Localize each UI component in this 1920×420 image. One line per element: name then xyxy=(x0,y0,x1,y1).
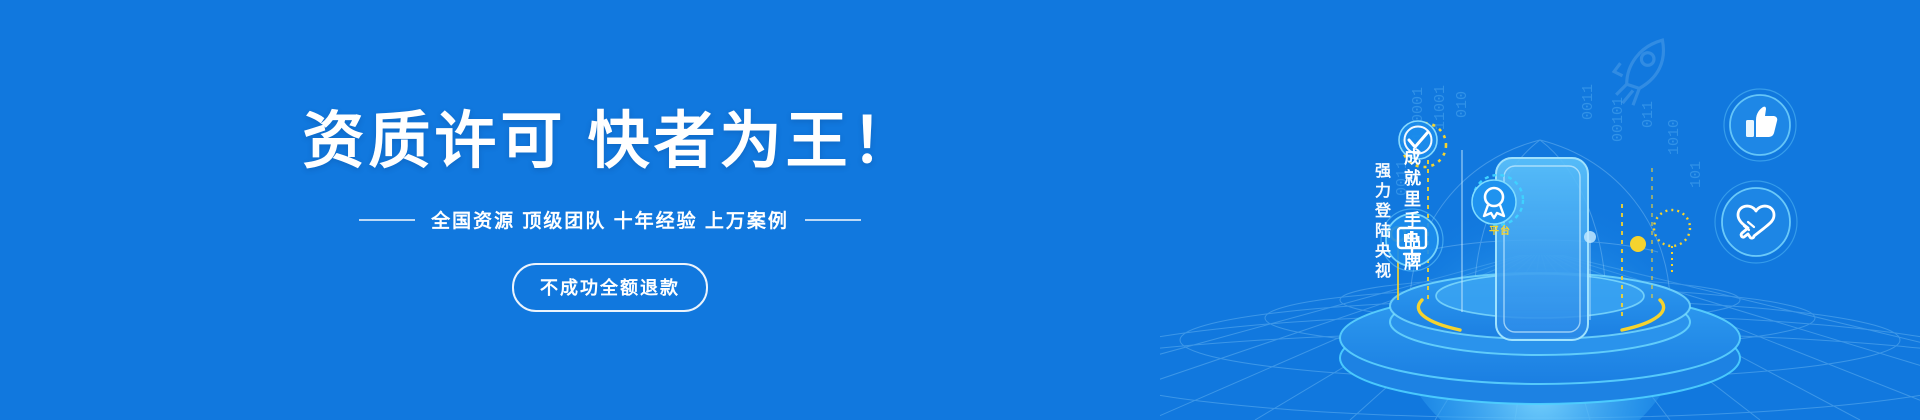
svg-text:101: 101 xyxy=(1688,161,1705,188)
divider-right xyxy=(805,219,861,221)
device-phone xyxy=(1496,158,1588,340)
svg-text:010: 010 xyxy=(1454,91,1471,118)
copy-block: 资质许可 快者为王！ 全国资源 顶级团队 十年经验 上万案例 不成功全额退款 xyxy=(0,0,1200,420)
hero-illustration: 0110001 11001 010 0011 00101 011 1010 00… xyxy=(1160,0,1920,420)
thumbs-up-icon xyxy=(1724,89,1796,161)
subtitle-row: 全国资源 顶级团队 十年经验 上万案例 xyxy=(359,206,861,233)
refund-guarantee-button[interactable]: 不成功全额退款 xyxy=(512,263,708,312)
svg-text:11001: 11001 xyxy=(1432,85,1449,130)
svg-text:1010: 1010 xyxy=(1666,119,1683,155)
subtitle-text: 全国资源 顶级团队 十年经验 上万案例 xyxy=(431,206,789,233)
medal-award-icon xyxy=(1472,175,1523,225)
handshake-heart-icon xyxy=(1715,181,1797,263)
device-slogan-right: 成就里手品牌 xyxy=(1398,148,1423,282)
svg-text:0011: 0011 xyxy=(1580,84,1597,120)
page-title: 资质许可 快者为王！ xyxy=(302,108,917,176)
device-slogan: 成就里手品牌 强力登陆央视 xyxy=(1368,148,1423,282)
device-slogan-left: 强力登陆央视 xyxy=(1368,162,1392,282)
svg-text:011: 011 xyxy=(1640,101,1657,128)
rocket-icon xyxy=(1614,40,1663,105)
promo-banner: 0110001 11001 010 0011 00101 011 1010 00… xyxy=(0,0,1920,420)
platform-badge-label: 平台 xyxy=(1489,222,1511,237)
divider-left xyxy=(359,219,415,221)
svg-text:00101: 00101 xyxy=(1610,97,1627,142)
